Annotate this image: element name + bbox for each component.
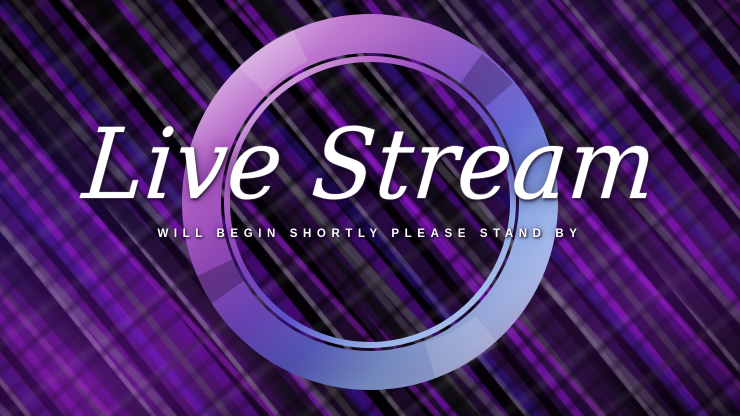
background-brush-strokes-primary (0, 0, 740, 416)
ring-outer-band (202, 34, 539, 371)
title-block: Live Stream WILL BEGIN SHORTLY PLEASE ST… (0, 118, 740, 240)
ring-outer-band-shading (202, 34, 539, 371)
background-stroke-breakup-light (0, 0, 740, 416)
background-brush-strokes-secondary (0, 0, 740, 416)
page-title: Live Stream (0, 115, 740, 214)
background-stroke-breakup-dark (0, 0, 740, 416)
background-color-tint (0, 0, 740, 416)
decorative-ring (0, 0, 740, 416)
background-vignette (0, 0, 740, 416)
ring-gap-upper-right (470, 70, 498, 96)
ring-highlight-lower-right (430, 330, 487, 360)
ring-gap-lower-left (214, 268, 228, 292)
ring-inner-thin-arc (227, 59, 513, 345)
status-message: WILL BEGIN SHORTLY PLEASE STAND BY (0, 228, 740, 240)
livestream-holding-slide: Live Stream WILL BEGIN SHORTLY PLEASE ST… (0, 0, 740, 416)
background-base-wash (0, 0, 740, 416)
ring-svg (0, 0, 740, 416)
ring-highlight-upper-left (252, 45, 300, 80)
